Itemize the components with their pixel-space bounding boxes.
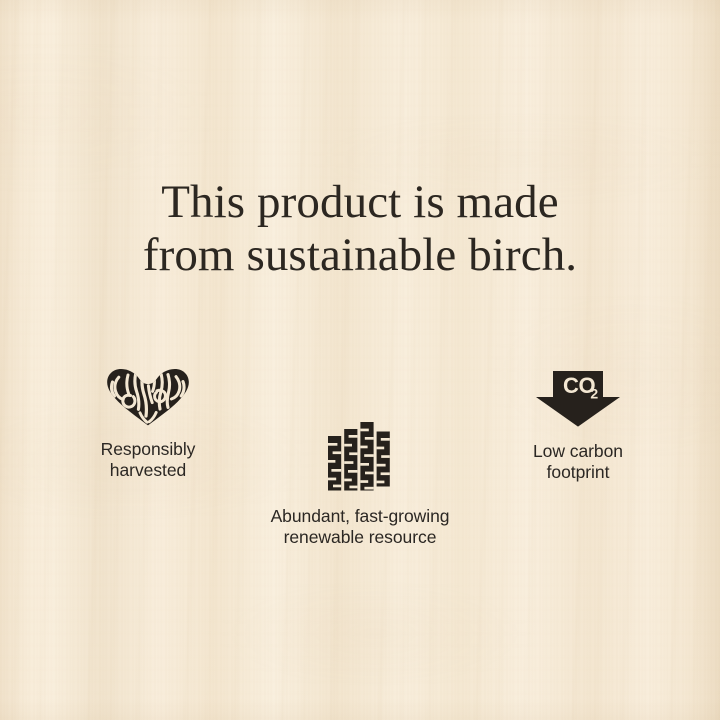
feature-icon-slot: CO 2 bbox=[478, 364, 678, 428]
sustainable-birch-panel: This product is made from sustainable bi… bbox=[0, 0, 720, 720]
feature-caption-line-1: Responsibly bbox=[48, 439, 248, 460]
feature-abundant-renewable-resource: Abundant, fast-growing renewable resourc… bbox=[260, 418, 460, 547]
feature-caption: Low carbon footprint bbox=[478, 441, 678, 482]
feature-icon-slot bbox=[48, 362, 248, 426]
panel-edge-vignette bbox=[0, 0, 720, 720]
feature-icon-slot bbox=[260, 418, 460, 492]
co2-label-subscript: 2 bbox=[590, 385, 598, 401]
headline-line-1: This product is made bbox=[0, 176, 720, 229]
feature-caption: Abundant, fast-growing renewable resourc… bbox=[260, 506, 460, 547]
feature-caption-line-1: Abundant, fast-growing bbox=[260, 506, 460, 527]
lumber-stack-bars-icon bbox=[327, 420, 393, 492]
feature-caption-line-1: Low carbon bbox=[478, 441, 678, 462]
feature-caption-line-2: renewable resource bbox=[260, 527, 460, 548]
feature-caption: Responsibly harvested bbox=[48, 439, 248, 480]
feature-caption-line-2: footprint bbox=[478, 462, 678, 483]
feature-row: Responsibly harvested bbox=[0, 362, 720, 572]
co2-down-arrow-icon: CO 2 bbox=[534, 370, 622, 428]
feature-low-carbon-footprint: CO 2 Low carbon footprint bbox=[478, 364, 678, 482]
feature-caption-line-2: harvested bbox=[48, 460, 248, 481]
headline: This product is made from sustainable bi… bbox=[0, 176, 720, 282]
wood-grain-heart-icon bbox=[106, 368, 190, 426]
feature-responsibly-harvested: Responsibly harvested bbox=[48, 362, 248, 480]
headline-line-2: from sustainable birch. bbox=[0, 229, 720, 282]
